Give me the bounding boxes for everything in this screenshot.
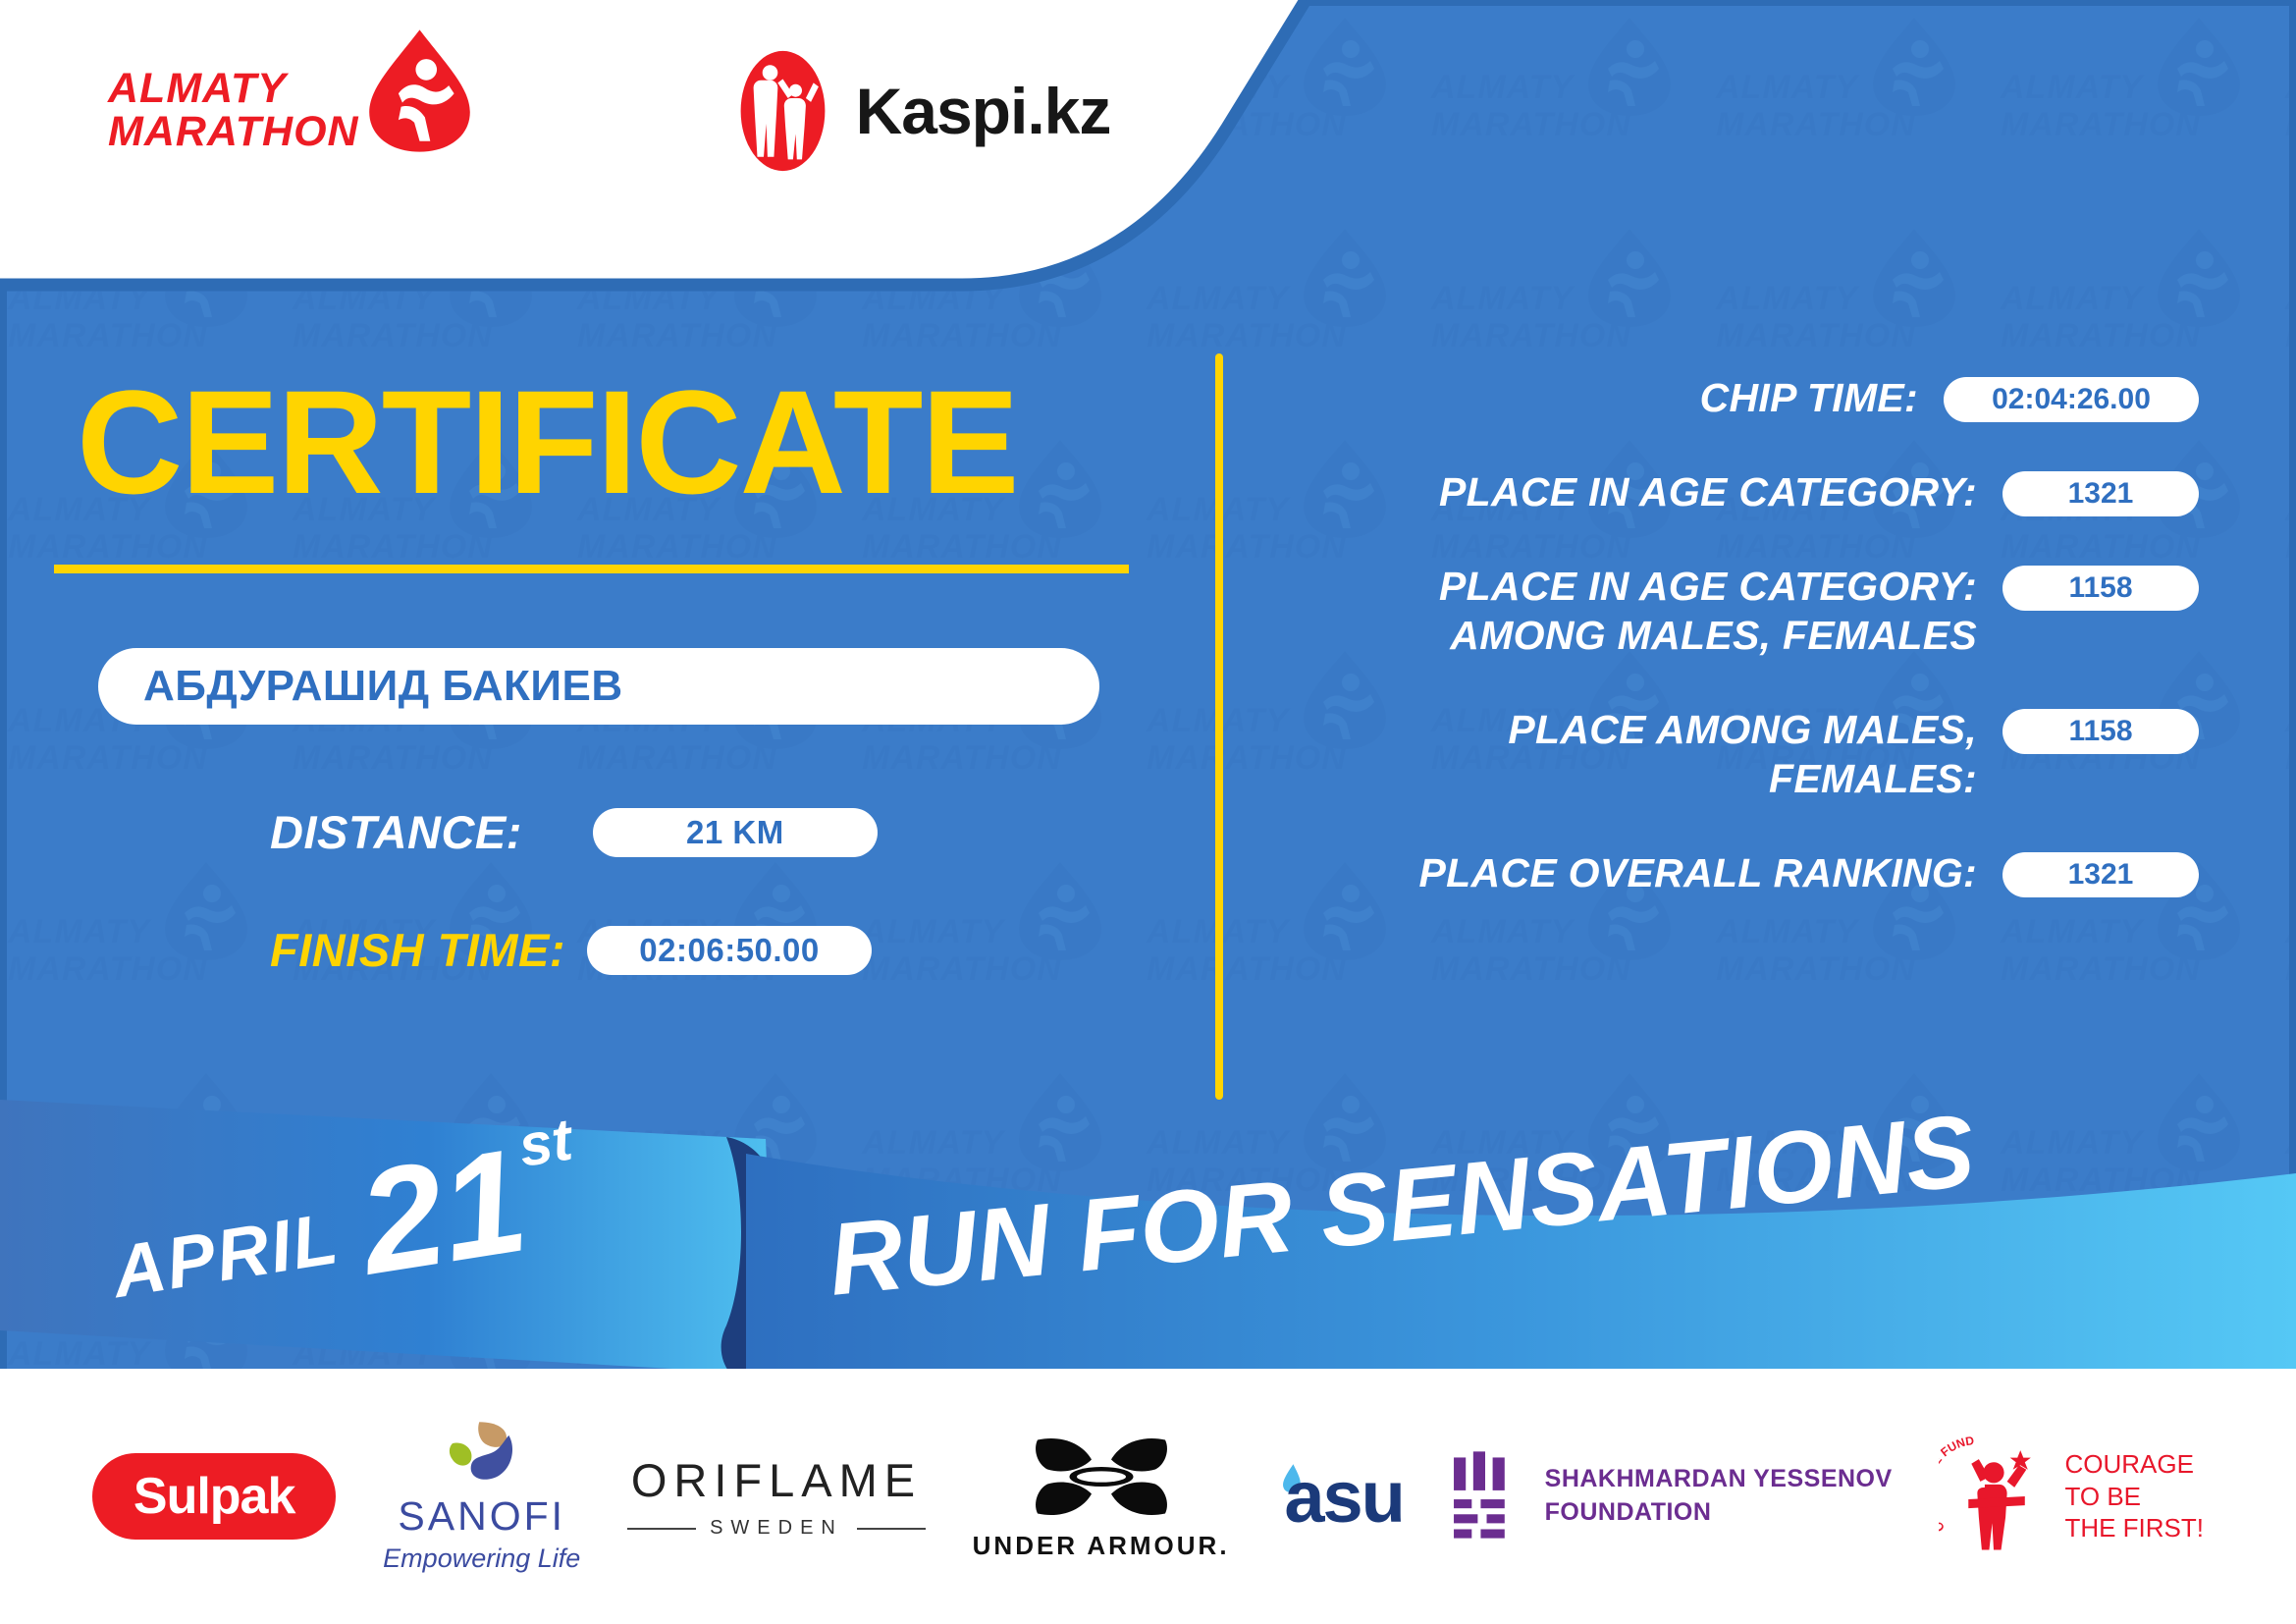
distance-label: DISTANCE:	[270, 805, 522, 859]
sponsor-courage-to-be-first: CORPORATE FUND COURAGE TO BE THE FIRST!	[1939, 1436, 2204, 1556]
asu-wordmark: asu	[1284, 1455, 1404, 1539]
sulpak-logo: Sulpak	[92, 1453, 337, 1540]
certificate-canvas: ALMATY MARATHON Kaspi.kz C	[0, 0, 2296, 1624]
almaty-marathon-wordmark: ALMATY MARATHON	[108, 68, 359, 154]
sanofi-tagline: Empowering Life	[383, 1543, 580, 1574]
stat-label: PLACE OVERALL RANKING:	[1276, 848, 2002, 897]
under-armour-logo-icon	[1028, 1433, 1175, 1521]
sponsor-yessenov-foundation: SHAKHMARDAN YESSENOV FOUNDATION	[1451, 1451, 1893, 1542]
column-divider	[1215, 353, 1223, 1100]
distance-row: DISTANCE: 21 KM	[270, 805, 878, 859]
rule-right	[857, 1528, 926, 1530]
stat-row-chip-time: CHIP TIME: 02:04:26.00	[1276, 373, 2199, 422]
stat-value: 1158	[2002, 709, 2199, 754]
sponsors-bar: Sulpak SANOFI Empowering Life ORIFLAME S…	[0, 1369, 2296, 1624]
sanofi-logo-icon	[442, 1419, 522, 1489]
stat-label: CHIP TIME:	[1276, 373, 1944, 422]
finish-time-label: FINISH TIME:	[270, 923, 565, 977]
finish-time-value: 02:06:50.00	[587, 926, 872, 975]
stat-label: PLACE IN AGE CATEGORY:	[1276, 467, 2002, 516]
courage-to-be-first-icon: CORPORATE FUND	[1939, 1436, 2049, 1556]
logo-line-almaty: ALMATY	[108, 68, 359, 111]
stat-row-place-age-category-among: PLACE IN AGE CATEGORY: AMONG MALES, FEMA…	[1276, 562, 2199, 660]
kaspi-people-icon	[731, 47, 834, 175]
sponsor-sanofi: SANOFI Empowering Life	[383, 1419, 580, 1574]
runner-drop-icon	[353, 25, 486, 157]
oriflame-tagline: SWEDEN	[710, 1517, 843, 1540]
sanofi-wordmark: SANOFI	[398, 1493, 565, 1540]
rule-left	[627, 1528, 696, 1530]
oriflame-wordmark: ORIFLAME	[631, 1453, 922, 1507]
participant-name-field: АБДУРАШИД БАКИЕВ	[98, 648, 1099, 725]
event-day: 21	[352, 1137, 534, 1286]
sponsor-under-armour: UNDER ARMOUR.	[973, 1433, 1230, 1561]
stat-value: 1321	[2002, 471, 2199, 516]
kaspi-logo: Kaspi.kz	[731, 47, 1111, 175]
header-logo-row: ALMATY MARATHON Kaspi.kz	[108, 47, 1110, 175]
title-underline-rule	[54, 565, 1129, 573]
stat-row-place-among-males-females: PLACE AMONG MALES, FEMALES: 1158	[1276, 705, 2199, 803]
almaty-marathon-logo: ALMATY MARATHON	[108, 66, 486, 157]
oriflame-sweden-row: SWEDEN	[627, 1517, 926, 1540]
stat-value: 1158	[2002, 566, 2199, 611]
sponsor-asu: asu	[1276, 1455, 1404, 1539]
logo-line-marathon: MARATHON	[108, 111, 359, 154]
stat-row-place-age-category: PLACE IN AGE CATEGORY: 1321	[1276, 467, 2199, 516]
yessenov-foundation-icon	[1451, 1451, 1520, 1542]
yessenov-foundation-wordmark: SHAKHMARDAN YESSENOV FOUNDATION	[1545, 1463, 1893, 1530]
stat-label: PLACE AMONG MALES, FEMALES:	[1276, 705, 2002, 803]
participant-name: АБДУРАШИД БАКИЕВ	[143, 662, 623, 711]
results-stats-list: CHIP TIME: 02:04:26.00 PLACE IN AGE CATE…	[1276, 373, 2199, 943]
stat-value: 1321	[2002, 852, 2199, 897]
kaspi-wordmark: Kaspi.kz	[856, 74, 1111, 148]
courage-to-be-first-wordmark: COURAGE TO BE THE FIRST!	[2064, 1448, 2204, 1544]
stat-value: 02:04:26.00	[1944, 377, 2199, 422]
under-armour-wordmark: UNDER ARMOUR.	[973, 1531, 1230, 1561]
sponsor-sulpak: Sulpak	[92, 1453, 337, 1540]
event-day-ordinal: st	[514, 1105, 576, 1179]
stat-label: PLACE IN AGE CATEGORY: AMONG MALES, FEMA…	[1276, 562, 2002, 660]
svg-text:CORPORATE FUND: CORPORATE FUND	[1939, 1436, 1975, 1535]
distance-value: 21 KM	[593, 808, 878, 857]
finish-time-row: FINISH TIME: 02:06:50.00	[270, 923, 872, 977]
certificate-title: CERTIFICATE	[77, 368, 1018, 515]
stat-row-place-overall-ranking: PLACE OVERALL RANKING: 1321	[1276, 848, 2199, 897]
sponsor-oriflame: ORIFLAME SWEDEN	[627, 1453, 926, 1540]
